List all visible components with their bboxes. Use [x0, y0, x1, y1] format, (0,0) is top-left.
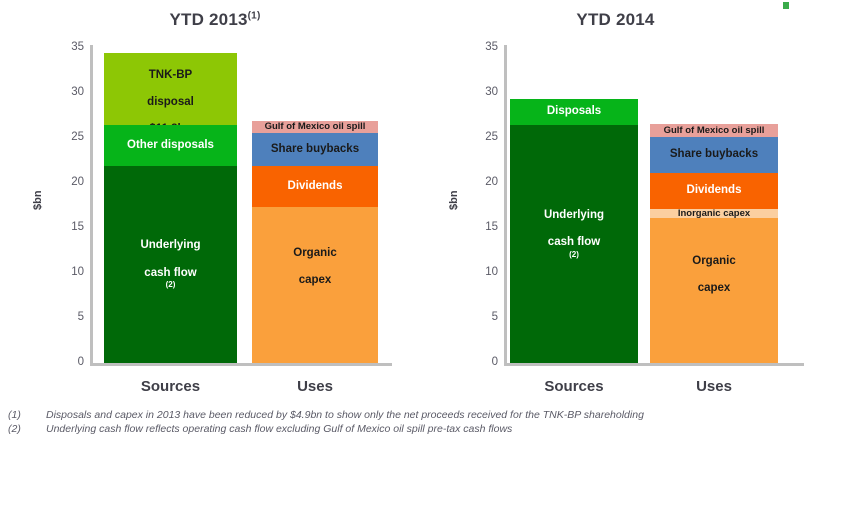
- y-tick-2013-0: 0: [56, 357, 84, 367]
- footnote-1-text: Disposals and capex in 2013 have been re…: [46, 408, 828, 422]
- y-tick-2014-30: 30: [470, 87, 498, 97]
- segment-label-gulf-2014: Gulf of Mexico oil spill: [662, 125, 767, 136]
- chart-panel-2013: YTD 2013(1) $bn 35 30 25 20 15 10 5 0 Ne…: [0, 0, 430, 400]
- bar-2013-uses[interactable]: Gulf of Mexico oil spill Share buybacks …: [252, 121, 378, 363]
- segment-label-share-buybacks-2013: Share buybacks: [269, 143, 361, 157]
- segment-label-underlying-2014-superscript: (2): [542, 250, 606, 259]
- segment-label-underlying-line2: cash flow: [138, 267, 202, 281]
- y-tick-2013-25: 25: [56, 132, 84, 142]
- segment-2014-uses-dividends[interactable]: Dividends: [650, 173, 778, 209]
- segment-label-organic-2014-line2: capex: [690, 282, 737, 296]
- y-axis-label-2014: $bn: [448, 190, 460, 210]
- x-axis-line-2014: [504, 363, 804, 366]
- segment-label-net-cash-line1: Net cash from: [130, 53, 211, 55]
- y-tick-2014-35: 35: [470, 42, 498, 52]
- segment-2014-sources-underlying-cash-flow[interactable]: Underlying cash flow(2): [510, 125, 638, 363]
- segment-2013-sources-other-disposals[interactable]: Other disposals: [104, 125, 237, 166]
- bar-2014-sources[interactable]: Disposals Underlying cash flow(2): [510, 99, 638, 363]
- segment-label-organic-2013-line1: Organic: [291, 247, 338, 261]
- segment-2013-uses-share-buybacks[interactable]: Share buybacks: [252, 133, 378, 166]
- footnote-2: (2) Underlying cash flow reflects operat…: [8, 422, 828, 436]
- y-tick-2013-10: 10: [56, 267, 84, 277]
- segment-label-organic-2014-line1: Organic: [690, 255, 737, 269]
- y-tick-2013-20: 20: [56, 177, 84, 187]
- charts-container: YTD 2013(1) $bn 35 30 25 20 15 10 5 0 Ne…: [0, 0, 841, 400]
- segment-2013-uses-organic-capex[interactable]: Organic capex: [252, 207, 378, 363]
- y-tick-2013-15: 15: [56, 222, 84, 232]
- y-tick-2014-10: 10: [470, 267, 498, 277]
- y-tick-2013-30: 30: [56, 87, 84, 97]
- segment-2013-sources-tnkbp-disposal[interactable]: Net cash from TNK-BP disposal $11.8bn: [104, 53, 237, 125]
- segment-2014-uses-gulf-of-mexico-oil-spill[interactable]: Gulf of Mexico oil spill: [650, 124, 778, 137]
- segment-label-net-cash-line3: disposal: [130, 96, 211, 110]
- chart-title-2013: YTD 2013(1): [0, 10, 430, 30]
- y-axis-line-2014: [504, 45, 507, 365]
- segment-label-underlying-2014-line2: cash flow: [542, 236, 606, 250]
- segment-label-underlying-superscript: (2): [138, 280, 202, 289]
- segment-2013-uses-dividends[interactable]: Dividends: [252, 166, 378, 207]
- segment-label-organic-2013-line2: capex: [291, 274, 338, 288]
- y-tick-2014-5: 5: [470, 312, 498, 322]
- footnote-2-text: Underlying cash flow reflects operating …: [46, 422, 828, 436]
- y-axis-label-2013: $bn: [32, 190, 44, 210]
- segment-label-disposals-2014: Disposals: [545, 105, 603, 119]
- segment-2014-uses-inorganic-capex[interactable]: Inorganic capex: [650, 209, 778, 218]
- segment-label-inorganic-capex: Inorganic capex: [676, 209, 752, 218]
- chart-title-2014-text: YTD 2014: [576, 10, 654, 29]
- y-tick-2014-15: 15: [470, 222, 498, 232]
- category-label-2014-sources: Sources: [510, 378, 638, 395]
- y-tick-2014-0: 0: [470, 357, 498, 367]
- chart-title-2013-text: YTD 2013: [170, 10, 248, 29]
- segment-2014-sources-disposals[interactable]: Disposals: [510, 99, 638, 125]
- segment-label-dividends-2014: Dividends: [685, 184, 744, 198]
- y-tick-2014-20: 20: [470, 177, 498, 187]
- chart-title-2013-superscript: (1): [248, 10, 261, 21]
- chart-panel-2014: YTD 2014 $bn 35 30 25 20 15 10 5 0 Dispo…: [430, 0, 841, 400]
- segment-label-net-cash-line2: TNK-BP: [130, 69, 211, 83]
- segment-label-gulf-2013: Gulf of Mexico oil spill: [263, 121, 368, 132]
- bar-2013-sources[interactable]: Net cash from TNK-BP disposal $11.8bn Ot…: [104, 53, 237, 363]
- segment-label-underlying-2014-line1: Underlying: [542, 209, 606, 223]
- segment-2014-uses-organic-capex[interactable]: Organic capex: [650, 218, 778, 363]
- segment-label-underlying-line1: Underlying: [138, 239, 202, 253]
- segment-2013-uses-gulf-of-mexico-oil-spill[interactable]: Gulf of Mexico oil spill: [252, 121, 378, 133]
- segment-label-other-disposals: Other disposals: [125, 139, 216, 153]
- category-label-2013-uses: Uses: [252, 378, 378, 395]
- segment-2014-uses-share-buybacks[interactable]: Share buybacks: [650, 137, 778, 173]
- footnote-2-number: (2): [8, 422, 46, 436]
- segment-label-dividends-2013: Dividends: [286, 180, 345, 194]
- y-axis-line-2013: [90, 45, 93, 365]
- x-axis-line-2013: [90, 363, 392, 366]
- y-tick-2014-25: 25: [470, 132, 498, 142]
- category-label-2014-uses: Uses: [650, 378, 778, 395]
- segment-label-share-buybacks-2014: Share buybacks: [668, 148, 760, 162]
- bar-2014-uses[interactable]: Gulf of Mexico oil spill Share buybacks …: [650, 124, 778, 363]
- footnote-1-number: (1): [8, 408, 46, 422]
- y-tick-2013-35: 35: [56, 42, 84, 52]
- category-label-2013-sources: Sources: [104, 378, 237, 395]
- segment-2013-sources-underlying-cash-flow[interactable]: Underlying cash flow(2): [104, 166, 237, 363]
- footnote-1: (1) Disposals and capex in 2013 have bee…: [8, 408, 828, 422]
- y-tick-2013-5: 5: [56, 312, 84, 322]
- footnotes: (1) Disposals and capex in 2013 have bee…: [8, 408, 828, 436]
- chart-title-2014: YTD 2014: [410, 10, 821, 30]
